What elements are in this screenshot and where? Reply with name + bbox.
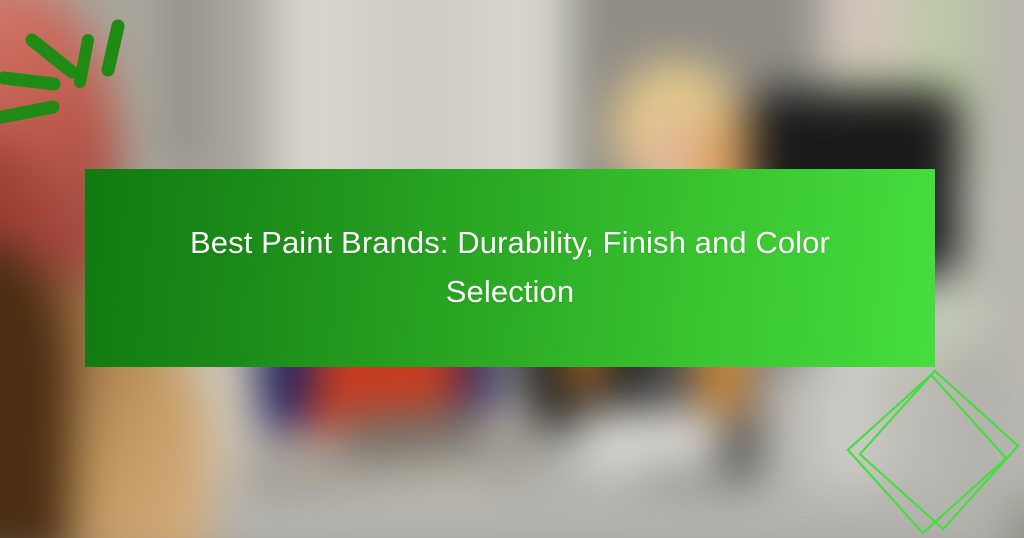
hero-banner-image: Best Paint Brands: Durability, Finish an… <box>0 0 1024 538</box>
wall-art-blur <box>820 0 910 70</box>
desk-paper-1 <box>580 410 720 470</box>
vertical-pole <box>172 0 198 170</box>
page-title: Best Paint Brands: Durability, Finish an… <box>160 219 860 317</box>
title-banner: Best Paint Brands: Durability, Finish an… <box>85 169 935 367</box>
